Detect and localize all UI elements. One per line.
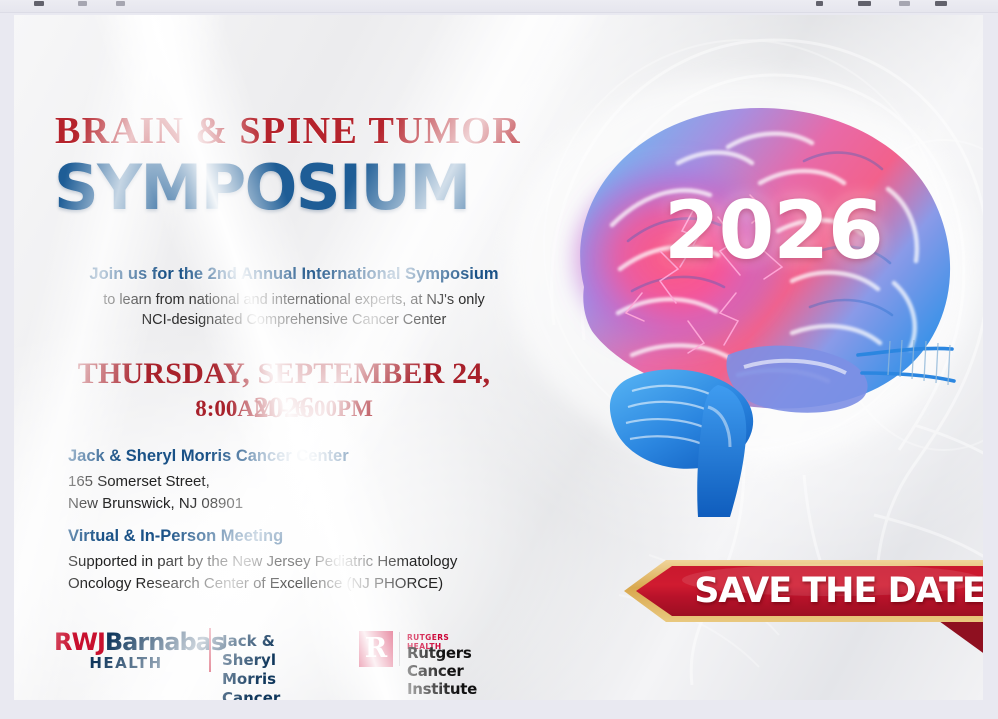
symposium-flyer: 2026 BRAIN & SPINE TUMOR SYMPOSIUM Join … <box>14 15 983 700</box>
logo-divider <box>209 628 211 672</box>
rutgers-institute-name: Rutgers Cancer Institute <box>407 644 477 698</box>
bookmark-icon[interactable] <box>816 1 823 6</box>
support-line-1: Supported in part by the New Jersey Pedi… <box>68 551 457 573</box>
reload-icon[interactable] <box>116 1 125 6</box>
extensions-icon[interactable] <box>858 1 871 6</box>
support-line-2: Oncology Research Center of Excellence (… <box>68 573 443 595</box>
rwjbarnabas-health-logo: RWJBarnabas HEALTH <box>54 630 224 672</box>
rwj-navy-text: Barnabas <box>105 628 224 656</box>
save-the-date-banner: SAVE THE DATE <box>622 560 983 622</box>
morris-line-2: Cancer Center <box>222 689 280 700</box>
venue-address-line-2: New Brunswick, NJ 08901 <box>68 493 243 515</box>
rwj-wordmark: RWJBarnabas <box>54 630 224 655</box>
lead-subline-2: NCI-designated Comprehensive Cancer Cent… <box>59 310 529 330</box>
rwj-red-text: RWJ <box>54 628 105 656</box>
back-arrow-icon[interactable] <box>34 1 44 6</box>
lead-headline: Join us for the 2nd Annual International… <box>59 265 529 284</box>
page-title: SYMPOSIUM <box>54 154 470 222</box>
save-the-date-label: SAVE THE DATE <box>682 560 983 622</box>
banner-ribbon-tail <box>939 615 983 663</box>
rutgers-logo-divider <box>399 632 400 666</box>
venue-address-line-1: 165 Somerset Street, <box>68 471 210 493</box>
morris-cancer-center-logo: Jack & Sheryl Morris Cancer Center <box>222 632 280 700</box>
menu-icon[interactable] <box>935 1 947 6</box>
year-badge: 2026 <box>664 191 854 271</box>
forward-arrow-icon[interactable] <box>78 1 87 6</box>
title-kicker: BRAIN & SPINE TUMOR <box>55 110 521 152</box>
browser-toolbar-strip <box>0 0 998 13</box>
lead-subline-1: to learn from national and international… <box>59 290 529 310</box>
morris-line-1: Jack & Sheryl Morris <box>222 632 280 689</box>
meeting-mode-heading: Virtual & In-Person Meeting <box>68 527 283 546</box>
rwj-health-text: HEALTH <box>54 655 198 672</box>
event-time: 8:00AM - 6:00PM <box>54 396 514 422</box>
rutgers-r-monogram-icon: R <box>359 631 393 667</box>
profile-icon[interactable] <box>899 1 910 6</box>
venue-name: Jack & Sheryl Morris Cancer Center <box>68 447 349 466</box>
